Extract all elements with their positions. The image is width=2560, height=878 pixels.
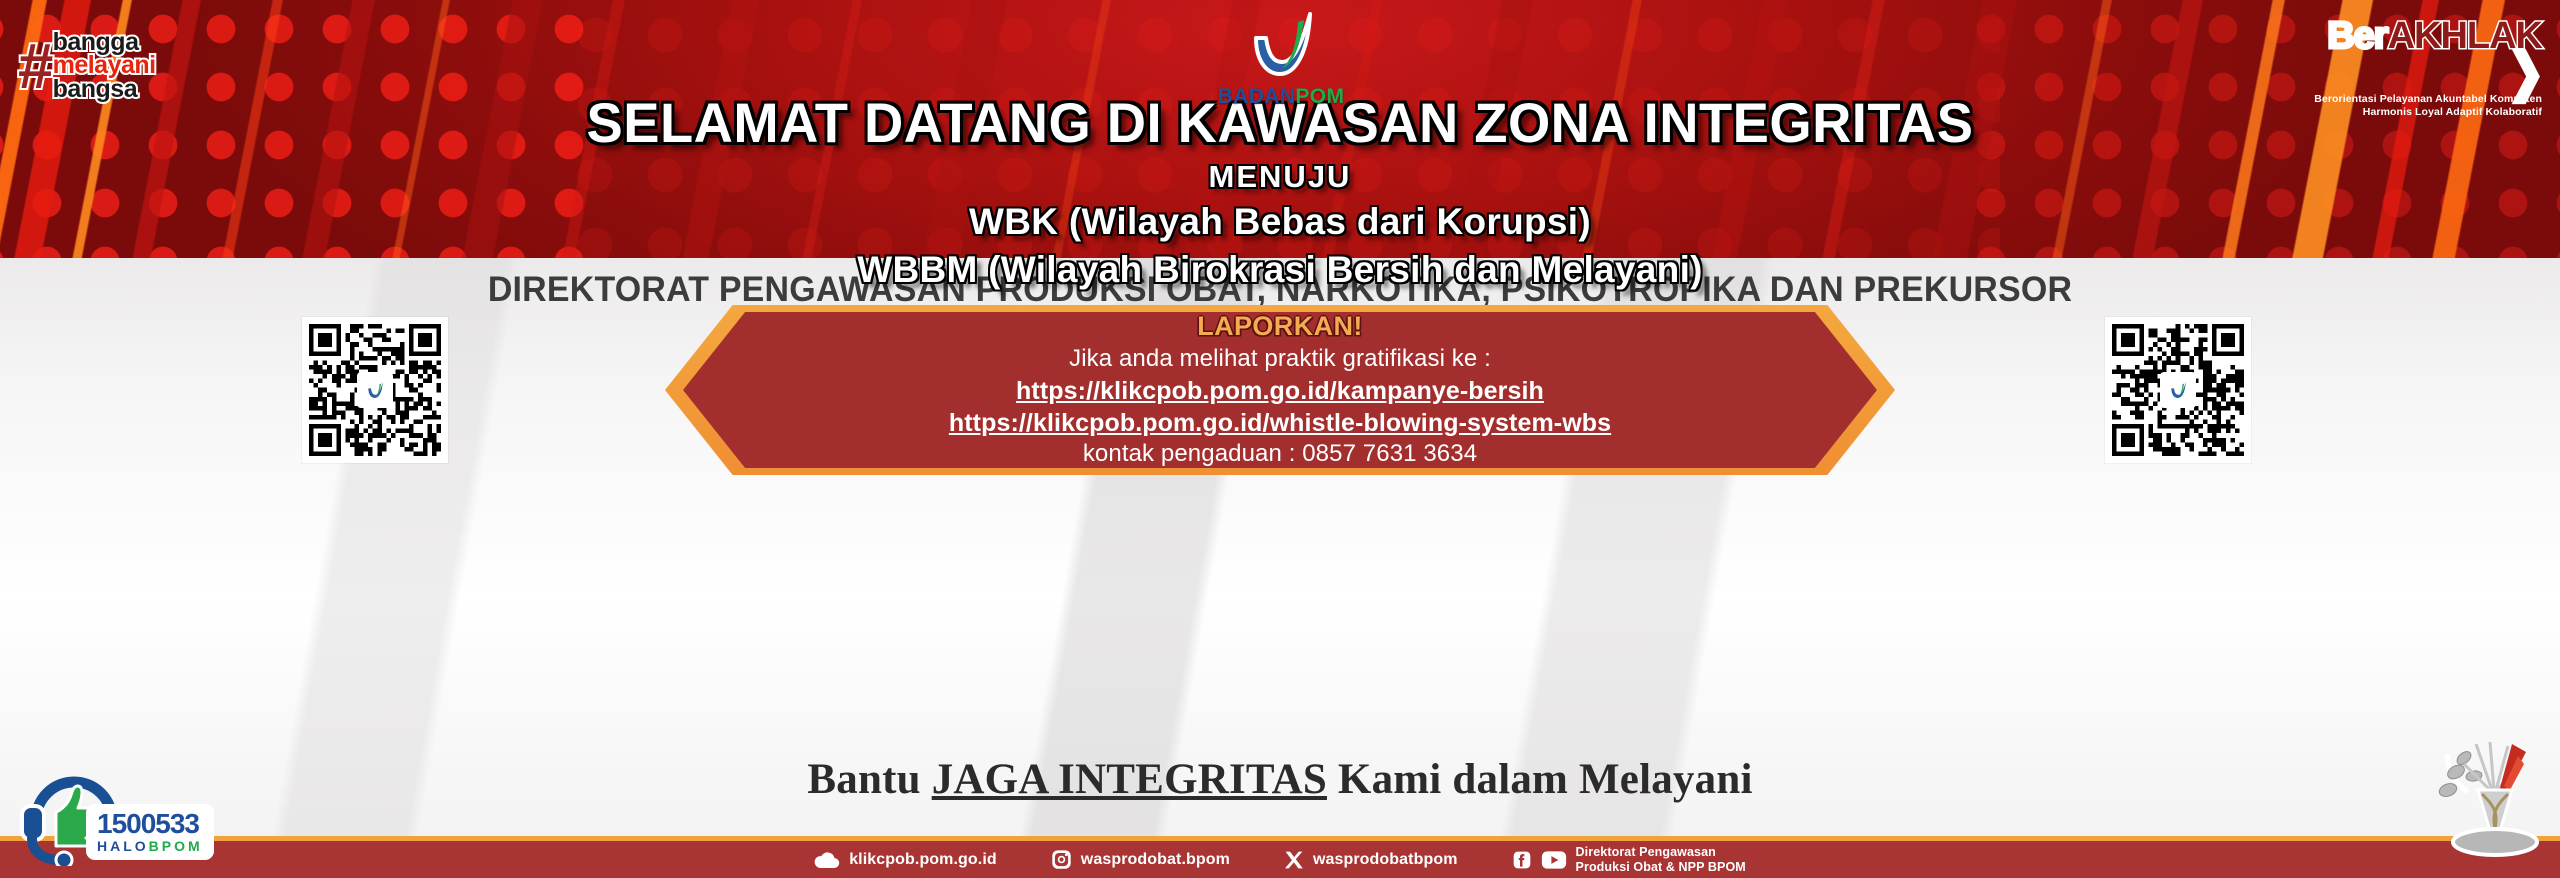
bpom-checkmark-icon	[363, 379, 387, 401]
bangga-words: bangga melayani bangsa	[53, 31, 156, 102]
laporkan-url-1[interactable]: https://klikcpob.pom.go.id/kampanye-bers…	[1016, 375, 1544, 407]
subtitle-wbbm: WBBM (Wilayah Birokrasi Bersih dan Melay…	[0, 249, 2560, 291]
cloud-icon	[814, 851, 840, 869]
badan-pom-wordmark: BADANPOM	[1216, 85, 1346, 109]
footer-bar: klikcpob.pom.go.id wasprodobat.bpom wasp…	[0, 841, 2560, 878]
badan-word: BADAN	[1218, 85, 1296, 108]
halo-bpom-number-badge: 1500533 HALOBPOM	[90, 808, 210, 856]
bangga-line-3: bangsa	[53, 78, 156, 102]
bpom-word-small: BPOM	[149, 838, 203, 854]
tagline-emphasis: JAGA INTEGRITAS	[932, 756, 1327, 803]
ber-word: Ber	[2327, 15, 2387, 57]
subtitle-wbk: WBK (Wilayah Bebas dari Korupsi)	[0, 201, 2560, 243]
halo-bpom-number: 1500533	[97, 810, 203, 838]
instagram-icon	[1051, 849, 1072, 870]
footer-item-x-twitter[interactable]: wasprodobatbpom	[1284, 850, 1458, 870]
zona-integritas-banner: # bangga melayani bangsa BADANPOM BerAKH…	[0, 0, 2560, 878]
berakhlak-tagline-2: Harmonis Loyal Adaptif Kolaboratif	[2312, 106, 2542, 118]
badan-pom-logo: BADANPOM	[1216, 4, 1346, 109]
facebook-icon	[1512, 850, 1532, 870]
tagline-suffix: Kami dalam Melayani	[1327, 756, 1753, 803]
halo-bpom-wordmark: HALOBPOM	[97, 839, 203, 853]
footer-item-facebook-youtube[interactable]: Direktorat Pengawasan Produksi Obat & NP…	[1512, 845, 1746, 875]
qr-left-center-logo	[357, 372, 393, 408]
footer-item-website[interactable]: klikcpob.pom.go.id	[814, 851, 997, 869]
berakhlak-logo: BerAKHLAK❯ Berorientasi Pelayanan Akunta…	[2312, 18, 2542, 118]
qr-code-right[interactable]	[2105, 317, 2251, 463]
tagline-prefix: Bantu	[807, 756, 931, 803]
bpom-checkmark-icon	[1236, 4, 1326, 84]
x-twitter-icon	[1284, 850, 1304, 870]
halo-word: HALO	[97, 838, 149, 854]
laporkan-url-2[interactable]: https://klikcpob.pom.go.id/whistle-blowi…	[949, 407, 1611, 439]
header-headings: SELAMAT DATANG DI KAWASAN ZONA INTEGRITA…	[0, 90, 2560, 291]
flower-vase-icon	[2434, 742, 2556, 878]
bpom-checkmark-icon	[2166, 379, 2190, 401]
footer-label-channel: Direktorat Pengawasan Produksi Obat & NP…	[1576, 845, 1746, 875]
footer-label-instagram: wasprodobat.bpom	[1081, 851, 1230, 869]
subtitle-menuju: MENUJU	[0, 159, 2560, 195]
youtube-icon	[1541, 850, 1567, 870]
laporkan-callout: LAPORKAN! Jika anda melihat praktik grat…	[665, 305, 1895, 475]
qr-right-center-logo	[2160, 372, 2196, 408]
decorative-vase-image	[2434, 742, 2556, 878]
footer-channel-line-1: Direktorat Pengawasan	[1576, 845, 1746, 860]
footer-channel-line-2: Produksi Obat & NPP BPOM	[1576, 860, 1746, 875]
laporkan-kontak: kontak pengaduan : 0857 7631 3634	[1083, 439, 1477, 470]
footer-label-website: klikcpob.pom.go.id	[849, 851, 997, 869]
integrity-tagline: Bantu JAGA INTEGRITAS Kami dalam Melayan…	[0, 755, 2560, 804]
bangga-melayani-bangsa-logo: # bangga melayani bangsa	[18, 22, 208, 110]
chevron-right-icon: ❯	[2509, 49, 2542, 97]
berakhlak-tagline-1: Berorientasi Pelayanan Akuntabel Kompete…	[2312, 93, 2542, 105]
qr-code-left[interactable]	[302, 317, 448, 463]
footer-label-x-twitter: wasprodobatbpom	[1313, 851, 1458, 869]
berakhlak-wordmark: BerAKHLAK❯	[2312, 18, 2542, 92]
hashtag-glyph: #	[18, 37, 51, 96]
laporkan-hex-body: LAPORKAN! Jika anda melihat praktik grat…	[683, 312, 1877, 468]
laporkan-intro: Jika anda melihat praktik gratifikasi ke…	[1069, 344, 1491, 375]
laporkan-title: LAPORKAN!	[1197, 311, 1363, 342]
halo-bpom-logo: 1500533 HALOBPOM	[16, 762, 206, 866]
footer-item-instagram[interactable]: wasprodobat.bpom	[1051, 849, 1230, 870]
pom-word: POM	[1295, 85, 1344, 108]
